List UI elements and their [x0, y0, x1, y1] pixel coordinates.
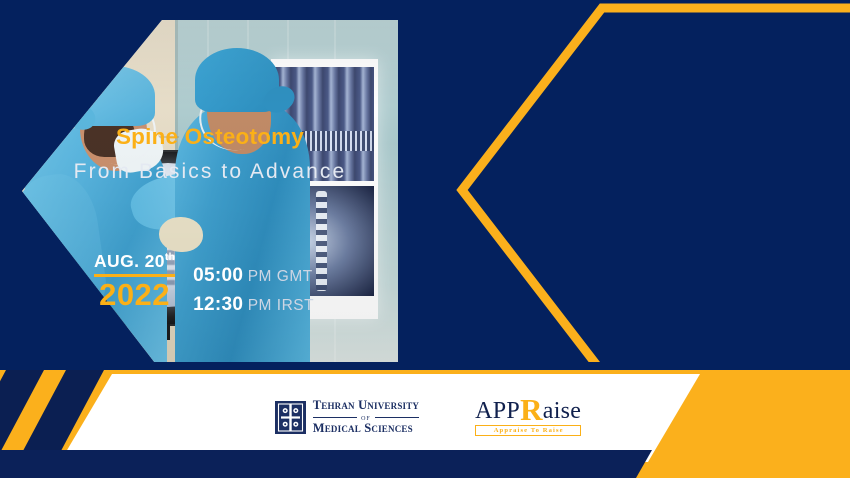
- appraise-part-1: APP: [475, 398, 520, 424]
- appraise-highlight-r: R: [520, 392, 543, 427]
- time-row-irst: 12:30 PM IRST: [193, 291, 314, 320]
- tums-line-3: Medical Sciences: [313, 422, 419, 435]
- time-suffix-gmt: PM GMT: [248, 268, 313, 285]
- time-value-irst: 12:30: [193, 294, 243, 315]
- time-value-gmt: 05:00: [193, 265, 243, 286]
- surgery-photo: [0, 20, 398, 372]
- time-row-gmt: 05:00 PM GMT: [193, 262, 314, 291]
- appraise-wordmark: APPRaise: [475, 398, 581, 423]
- date-month-day: AUG. 20th: [94, 252, 175, 270]
- logo-tehran-university: Tehran University of Medical Sciences: [275, 399, 419, 435]
- date-time-block: AUG. 20th 2022 05:00 PM GMT 12:30 PM IRS…: [94, 252, 314, 319]
- time-suffix-irst: PM IRST: [248, 297, 314, 314]
- tums-wordmark: Tehran University of Medical Sciences: [313, 399, 419, 435]
- logo-appraise: APPRaise Appraise To Raise: [475, 398, 581, 436]
- appraise-part-2: aise: [543, 398, 582, 424]
- bottom-bar: Tehran University of Medical Sciences AP…: [0, 362, 850, 478]
- tums-emblem-glyph: [275, 401, 306, 434]
- event-title: Spine Osteotomy: [0, 124, 420, 150]
- photo-vignette: [0, 20, 398, 372]
- chevron-outline: [462, 8, 850, 372]
- date-column: AUG. 20th 2022: [94, 252, 189, 312]
- date-ordinal: th: [165, 252, 175, 263]
- bottom-navy-top-edge: [0, 362, 850, 370]
- event-poster: Spine Osteotomy From Basics to Advance A…: [0, 0, 850, 478]
- time-column: 05:00 PM GMT 12:30 PM IRST: [189, 252, 314, 319]
- tums-line-2: of: [313, 413, 419, 422]
- tums-emblem-icon: [275, 401, 306, 434]
- date-year: 2022: [94, 279, 175, 312]
- logo-row: Tehran University of Medical Sciences AP…: [0, 382, 850, 452]
- event-subtitle: From Basics to Advance: [0, 160, 420, 184]
- appraise-tagline: Appraise To Raise: [475, 425, 581, 436]
- date-month-day-text: AUG. 20: [94, 251, 165, 271]
- tums-line-1: Tehran University: [313, 399, 419, 412]
